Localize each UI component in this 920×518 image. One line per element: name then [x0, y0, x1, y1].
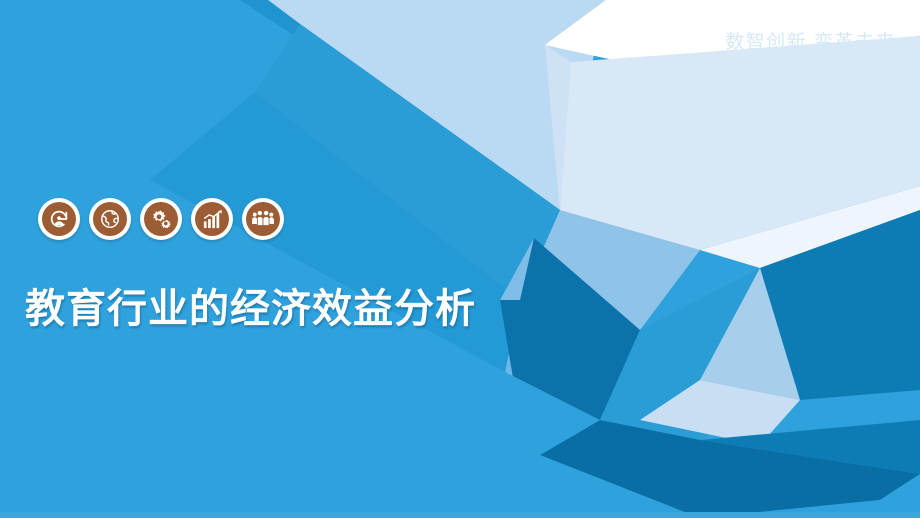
- slide-tagline: 数智创新 变革未来: [725, 27, 896, 54]
- icon-badge-globe[interactable]: [89, 198, 131, 240]
- bottom-accent-strip: [0, 512, 920, 518]
- globe-icon: [93, 202, 127, 236]
- refresh-person-icon: [42, 202, 76, 236]
- gears-icon: [144, 202, 178, 236]
- icon-badge-people-group[interactable]: [242, 198, 284, 240]
- presentation-slide: 数智创新 变革未来: [0, 0, 920, 518]
- icon-badge-row: [38, 198, 284, 240]
- bar-chart-growth-icon: [195, 202, 229, 236]
- icon-badge-refresh-person[interactable]: [38, 198, 80, 240]
- icon-badge-gears[interactable]: [140, 198, 182, 240]
- slide-title: 教育行业的经济效益分析: [25, 284, 476, 334]
- icon-badge-bar-chart-growth[interactable]: [191, 198, 233, 240]
- geometric-background-art: [0, 0, 920, 518]
- people-group-icon: [246, 202, 280, 236]
